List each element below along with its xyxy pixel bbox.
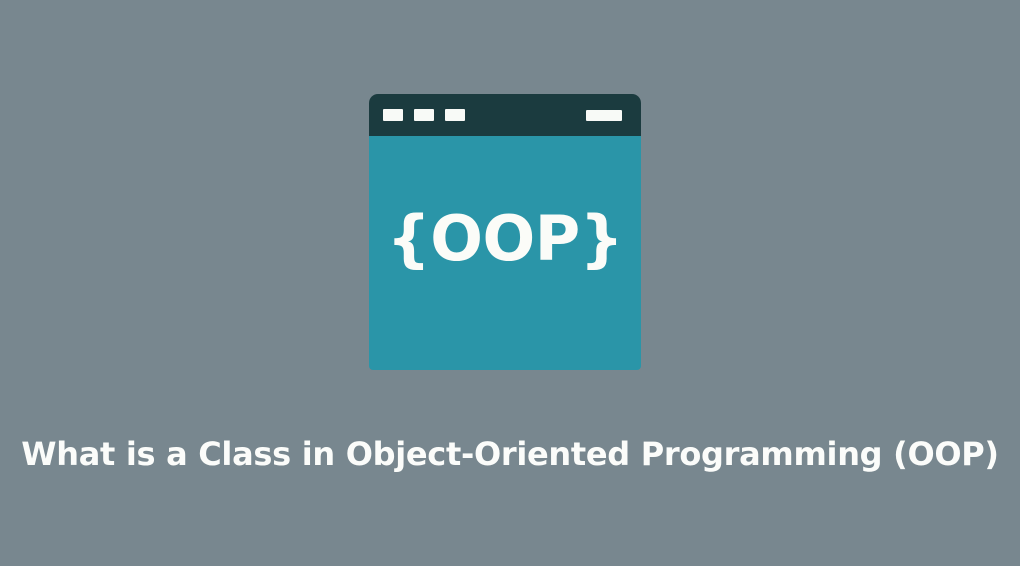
window-dot-3-icon [445,109,465,121]
page-title: What is a Class in Object-Oriented Progr… [0,432,1020,476]
window-control-dots [383,109,465,121]
code-window-illustration: {OOP} [369,94,641,370]
window-dot-1-icon [383,109,403,121]
window-titlebar [369,94,641,136]
window-dot-2-icon [414,109,434,121]
oop-screen-text: {OOP} [387,208,624,270]
screenshot-canvas: {OOP} What is a Class in Object-Oriented… [0,0,1020,575]
window-address-bar-icon [586,110,622,121]
window-body: {OOP} [369,136,641,370]
